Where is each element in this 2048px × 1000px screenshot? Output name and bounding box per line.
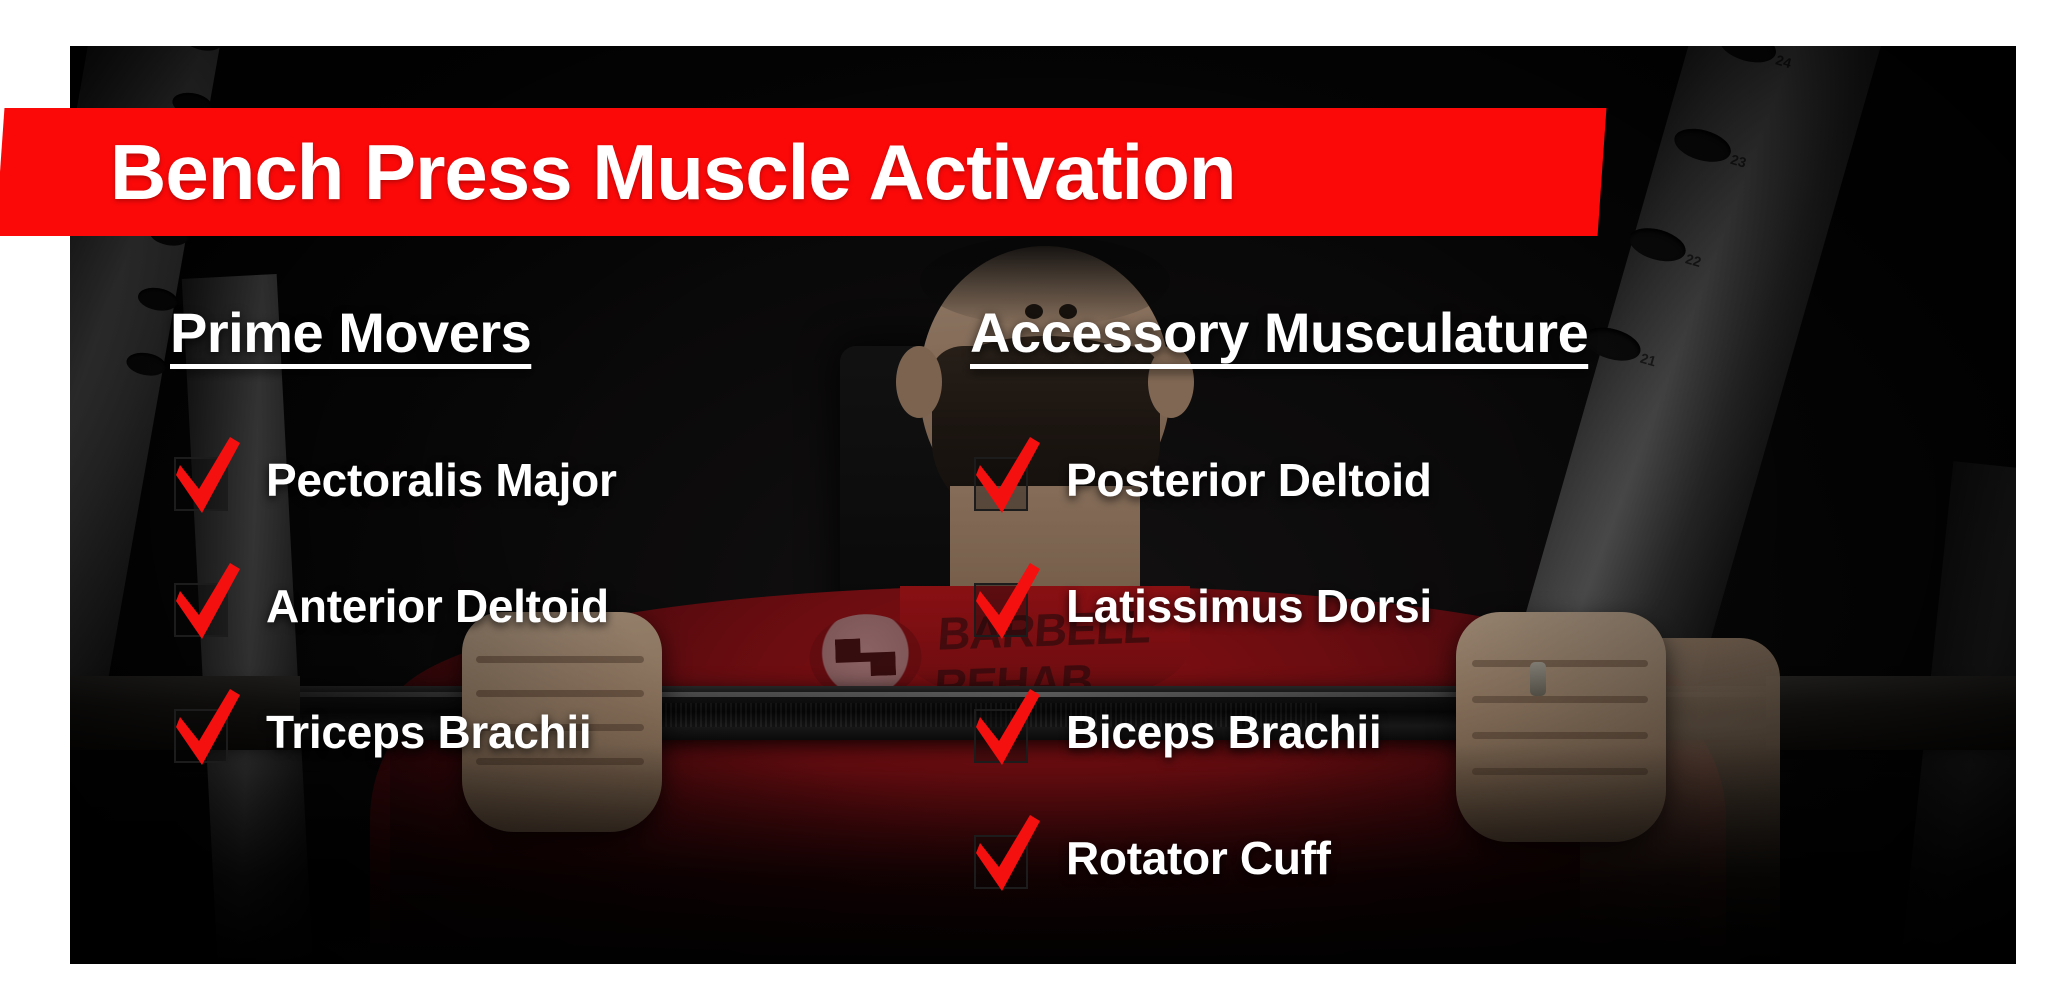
rack-hole xyxy=(182,46,225,54)
checkbox-outline xyxy=(174,457,228,511)
page-title: Bench Press Muscle Activation xyxy=(110,112,1610,232)
list-item-label: Rotator Cuff xyxy=(1066,831,1331,885)
list-item[interactable]: Pectoralis Major xyxy=(170,417,950,543)
checkbox-outline xyxy=(174,583,228,637)
column-prime-movers: Prime Movers Pectoralis MajorAnterior De… xyxy=(70,300,950,900)
red-check-icon xyxy=(170,449,232,511)
checkbox-outline xyxy=(974,583,1028,637)
list-item[interactable]: Anterior Deltoid xyxy=(170,543,950,669)
rack-hole-number: 22 xyxy=(1684,250,1703,270)
list-item[interactable]: Latissimus Dorsi xyxy=(970,543,1950,669)
list-item[interactable]: Posterior Deltoid xyxy=(970,417,1950,543)
list-accessory-musculature: Posterior DeltoidLatissimus DorsiBiceps … xyxy=(970,417,1950,921)
infographic-root: 2524232221 BARBELL REHAB xyxy=(0,0,2048,1000)
heading-accessory-musculature: Accessory Musculature xyxy=(970,300,1950,365)
rack-hole xyxy=(1625,222,1689,267)
rack-hole xyxy=(1716,46,1780,68)
red-check-icon xyxy=(970,575,1032,637)
checkbox-outline xyxy=(974,709,1028,763)
red-check-icon xyxy=(970,827,1032,889)
rack-hole-number: 24 xyxy=(1774,52,1793,72)
column-accessory-musculature: Accessory Musculature Posterior DeltoidL… xyxy=(950,300,1950,900)
rack-hole-number: 23 xyxy=(1729,151,1748,171)
list-item-label: Pectoralis Major xyxy=(266,453,617,507)
muscle-columns: Prime Movers Pectoralis MajorAnterior De… xyxy=(70,300,2016,900)
red-check-icon xyxy=(970,701,1032,763)
list-item-label: Triceps Brachii xyxy=(266,705,591,759)
list-prime-movers: Pectoralis MajorAnterior DeltoidTriceps … xyxy=(170,417,950,795)
red-check-icon xyxy=(170,701,232,763)
heading-prime-movers: Prime Movers xyxy=(170,300,950,365)
list-item-label: Latissimus Dorsi xyxy=(1066,579,1432,633)
red-check-icon xyxy=(170,575,232,637)
checkbox-outline xyxy=(974,835,1028,889)
checkbox-outline xyxy=(174,709,228,763)
list-item-label: Posterior Deltoid xyxy=(1066,453,1432,507)
list-item[interactable]: Triceps Brachii xyxy=(170,669,950,795)
list-item[interactable]: Rotator Cuff xyxy=(970,795,1950,921)
checkbox-outline xyxy=(974,457,1028,511)
rack-hole xyxy=(1671,123,1735,168)
list-item-label: Anterior Deltoid xyxy=(266,579,609,633)
list-item-label: Biceps Brachii xyxy=(1066,705,1381,759)
red-check-icon xyxy=(970,449,1032,511)
list-item[interactable]: Biceps Brachii xyxy=(970,669,1950,795)
